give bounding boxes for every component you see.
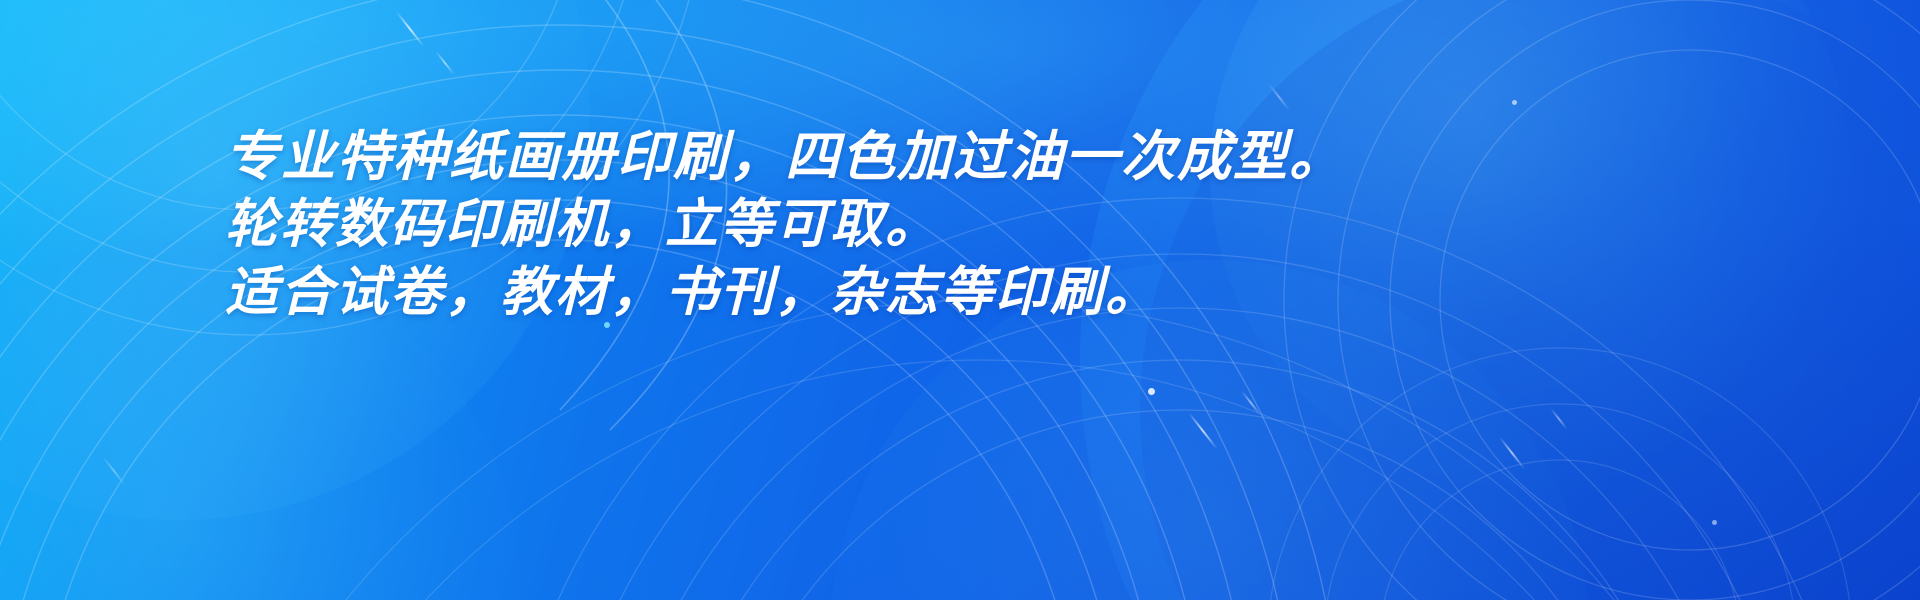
headline-block: 专业特种纸画册印刷，四色加过油一次成型。 轮转数码印刷机，立等可取。 适合试卷，… [225,122,1525,326]
headline-line-1: 专业特种纸画册印刷，四色加过油一次成型。 [225,122,1525,190]
promo-banner: 专业特种纸画册印刷，四色加过油一次成型。 轮转数码印刷机，立等可取。 适合试卷，… [0,0,1920,600]
headline-line-3: 适合试卷，教材，书刊，杂志等印刷。 [225,258,1525,326]
headline-line-2: 轮转数码印刷机，立等可取。 [225,190,1525,258]
